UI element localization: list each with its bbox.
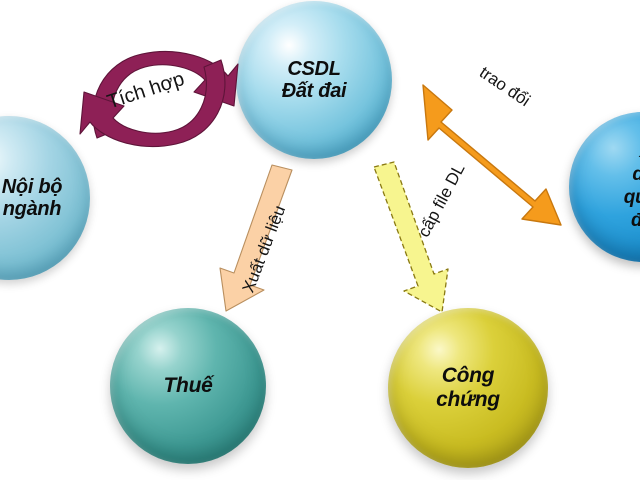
edge-xuatdulieu-arrow[interactable] [220, 165, 292, 311]
node-thue-label: Thuế [164, 374, 213, 398]
node-xay-dung-quan-ly-do-thi-label: Xây dựng quản lý đô thị [598, 141, 640, 232]
edge-label-capfile: cấp file DL [414, 160, 469, 240]
node-xay-dung-quan-ly-do-thi[interactable]: Xây dựng quản lý đô thị [569, 112, 640, 262]
node-cong-chung-label: Công chứng [436, 364, 500, 411]
edge-label-xuatdulieu: Xuất dữ liệu [239, 203, 291, 296]
edge-traodoi-double-arrow[interactable] [423, 85, 561, 225]
node-noibo-nganh-label: Nội bộ ngành [0, 176, 62, 221]
diagram-canvas: Nội bộ ngành CSDL Đất đai Xây dựng quản … [0, 0, 640, 480]
node-csdl-dat-dai-label: CSDL Đất đai [282, 58, 347, 103]
edge-label-tichhop: Tích hợp [104, 68, 187, 115]
edge-label-traodoi: trao đổi [475, 63, 533, 111]
node-noibo-nganh[interactable]: Nội bộ ngành [0, 116, 90, 280]
node-cong-chung[interactable]: Công chứng [388, 308, 548, 468]
node-csdl-dat-dai[interactable]: CSDL Đất đai [236, 1, 392, 159]
edge-tichhop-cycle-arrow[interactable] [80, 51, 238, 146]
edge-capfile-dashed-arrow[interactable] [374, 162, 448, 312]
node-thue[interactable]: Thuế [110, 308, 266, 464]
